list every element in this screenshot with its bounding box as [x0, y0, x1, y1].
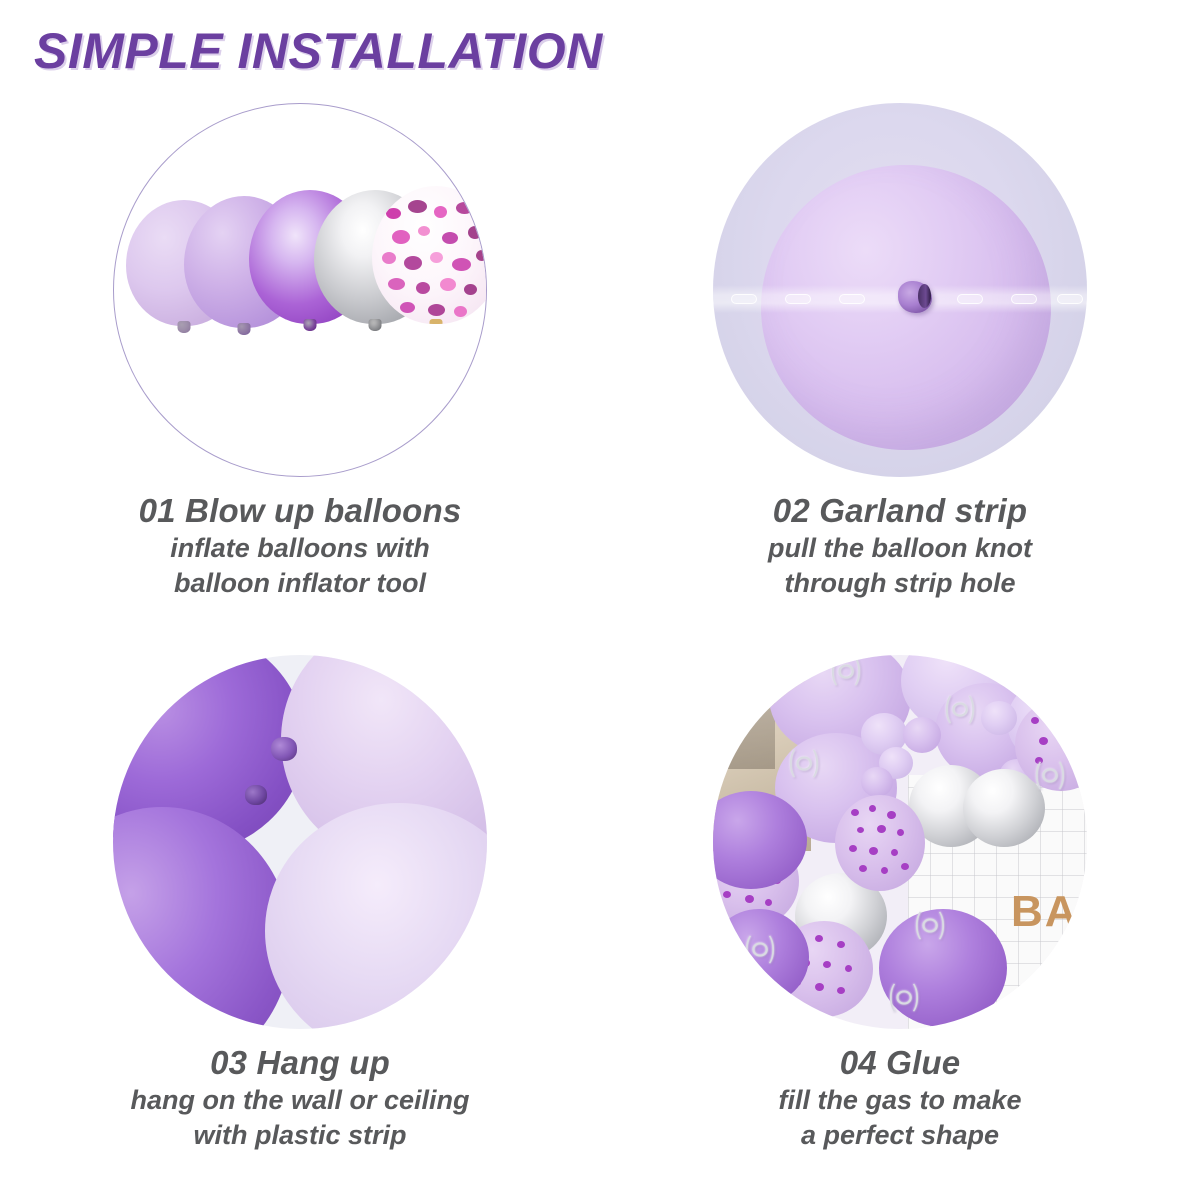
step-04-desc-line1: fill the gas to make	[600, 1083, 1200, 1118]
step-03-caption: 03 Hang up hang on the wall or ceiling w…	[0, 1043, 600, 1152]
step-03-illustration	[113, 655, 487, 1029]
garland-balloon-small-4	[861, 767, 893, 797]
cluster-balloon-lavender-bottom	[265, 803, 487, 1029]
balloon-pink-confetti	[372, 186, 487, 324]
balloon-knot	[898, 281, 932, 313]
step-02-caption: 02 Garland strip pull the balloon knot t…	[600, 491, 1200, 600]
step-04-illustration: BAB	[713, 655, 1087, 1029]
finished-garland: BAB	[713, 655, 1087, 1029]
step-card-03: 03 Hang up hang on the wall or ceiling w…	[0, 647, 600, 1199]
step-03-heading: 03 Hang up	[0, 1043, 600, 1083]
balloon-row	[114, 104, 486, 476]
step-01-illustration	[113, 103, 487, 477]
garland-balloon-small-2	[903, 717, 941, 753]
step-01-desc-line1: inflate balloons with	[0, 531, 600, 566]
step-02-desc-line1: pull the balloon knot	[600, 531, 1200, 566]
step-03-desc-line1: hang on the wall or ceiling	[0, 1083, 600, 1118]
step-03-circle-frame	[113, 655, 487, 1029]
page-title: SIMPLE INSTALLATION	[34, 22, 603, 80]
balloon-cluster	[113, 655, 487, 1029]
step-04-desc-line2: a perfect shape	[600, 1118, 1200, 1153]
step-card-04: BAB	[600, 647, 1200, 1199]
backdrop-text: BAB	[1011, 887, 1087, 937]
step-01-heading: 01 Blow up balloons	[0, 491, 600, 531]
step-01-caption: 01 Blow up balloons inflate balloons wit…	[0, 491, 600, 600]
garland-balloon-confetti-1	[835, 795, 925, 891]
installation-steps-grid: 01 Blow up balloons inflate balloons wit…	[0, 95, 1200, 1200]
garland-balloon-small-5	[981, 701, 1017, 735]
step-03-desc-line2: with plastic strip	[0, 1118, 600, 1153]
step-01-desc-line2: balloon inflator tool	[0, 566, 600, 601]
step-04-caption: 04 Glue fill the gas to make a perfect s…	[600, 1043, 1200, 1152]
step-card-01: 01 Blow up balloons inflate balloons wit…	[0, 95, 600, 647]
cluster-balloon-purple-bottom	[113, 807, 291, 1029]
step-02-heading: 02 Garland strip	[600, 491, 1200, 531]
step-card-02: 02 Garland strip pull the balloon knot t…	[600, 95, 1200, 647]
step-01-circle-frame	[113, 103, 487, 477]
step-02-desc-line2: through strip hole	[600, 566, 1200, 601]
step-04-heading: 04 Glue	[600, 1043, 1200, 1083]
garland-balloon-purple-3	[713, 909, 809, 1005]
step-02-circle-frame	[713, 103, 1087, 477]
garland-balloon-purple-2	[879, 909, 1007, 1027]
step-02-illustration	[713, 103, 1087, 477]
cluster-knot-lower	[245, 785, 267, 805]
cluster-knot-upper	[271, 737, 297, 761]
step-04-circle-frame: BAB	[713, 655, 1087, 1029]
